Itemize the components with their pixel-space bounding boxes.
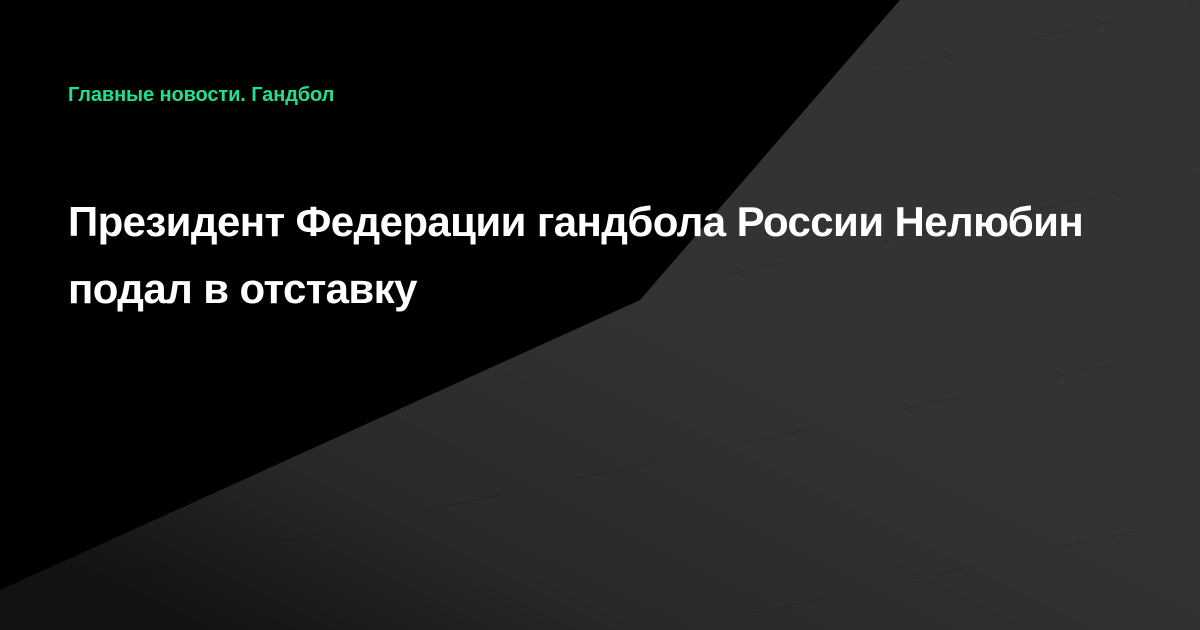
og-card: Главные новости. Гандбол Президент Федер…	[0, 0, 1200, 630]
kicker-label: Главные новости. Гандбол	[68, 82, 334, 108]
content-layer: Главные новости. Гандбол Президент Федер…	[0, 0, 1200, 630]
page-title: Президент Федерации гандбола России Нелю…	[68, 188, 1128, 322]
